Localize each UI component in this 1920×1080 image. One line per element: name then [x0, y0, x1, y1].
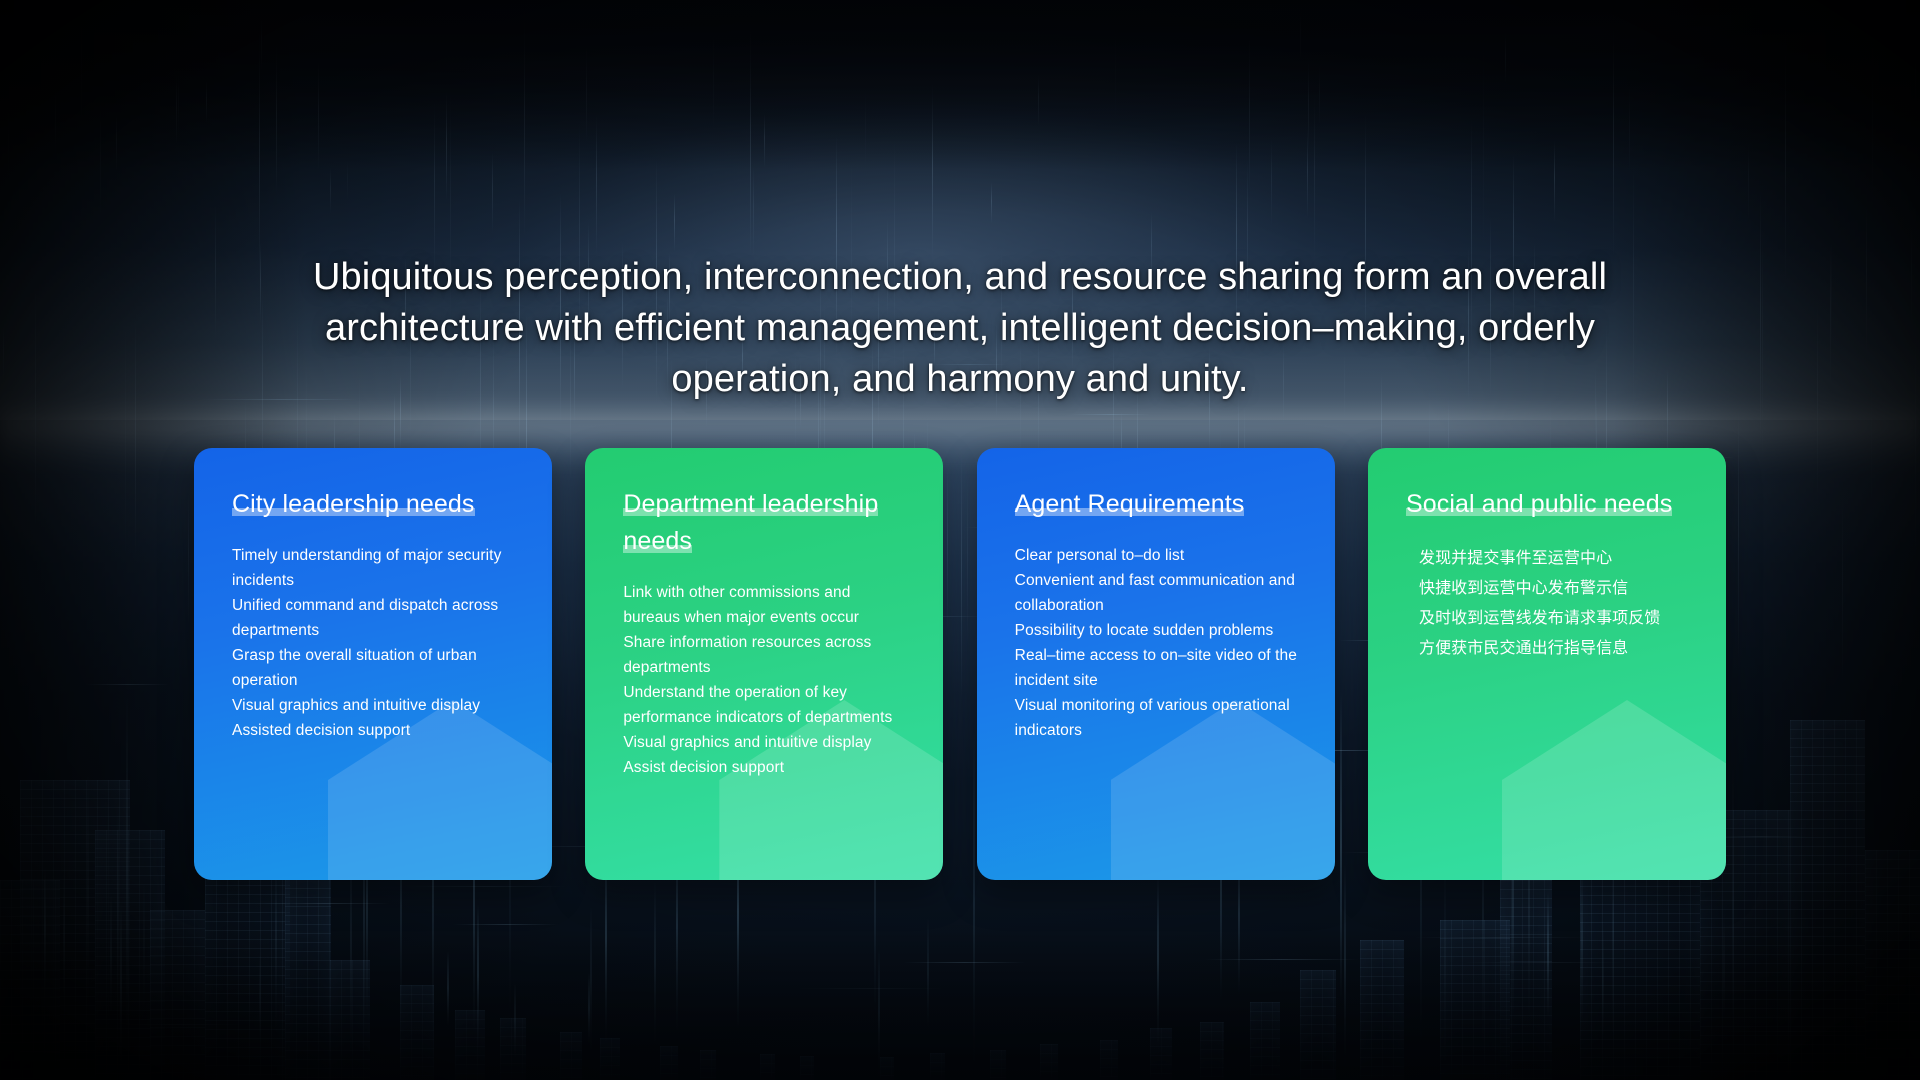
- list-item: Visual graphics and intuitive display: [623, 730, 911, 755]
- list-item: 方便获市民交通出行指导信息: [1419, 634, 1694, 664]
- needs-card-3[interactable]: Agent RequirementsClear personal to–do l…: [977, 448, 1335, 880]
- list-item: Visual monitoring of various operational…: [1015, 693, 1303, 743]
- card-item-list: Timely understanding of major security i…: [232, 543, 520, 743]
- list-item: Unified command and dispatch across depa…: [232, 593, 520, 643]
- list-item: Real–time access to on–site video of the…: [1015, 643, 1303, 693]
- card-title: Social and public needs: [1406, 490, 1672, 518]
- card-title-wrap: Social and public needs: [1406, 486, 1696, 523]
- list-item: Assisted decision support: [232, 718, 520, 743]
- needs-card-2[interactable]: Department leadership needsLink with oth…: [585, 448, 943, 880]
- list-item: 快捷收到运营中心发布警示信: [1419, 574, 1694, 604]
- list-item: Grasp the overall situation of urban ope…: [232, 643, 520, 693]
- list-item: Assist decision support: [623, 755, 911, 780]
- list-item: Convenient and fast communication and co…: [1015, 568, 1303, 618]
- list-item: Timely understanding of major security i…: [232, 543, 520, 593]
- needs-card-1[interactable]: City leadership needsTimely understandin…: [194, 448, 552, 880]
- card-title: Agent Requirements: [1015, 490, 1245, 518]
- card-item-list: Clear personal to–do listConvenient and …: [1015, 543, 1303, 743]
- card-title-wrap: Department leadership needs: [623, 486, 913, 560]
- page-headline: Ubiquitous perception, interconnection, …: [245, 252, 1675, 405]
- card-title: Department leadership needs: [623, 490, 878, 555]
- needs-card-row: City leadership needsTimely understandin…: [194, 448, 1726, 880]
- list-item: Clear personal to–do list: [1015, 543, 1303, 568]
- list-item: Understand the operation of key performa…: [623, 680, 911, 730]
- list-item: 发现并提交事件至运营中心: [1419, 544, 1694, 574]
- list-item: Visual graphics and intuitive display: [232, 693, 520, 718]
- card-title-wrap: City leadership needs: [232, 486, 522, 523]
- card-item-list: 发现并提交事件至运营中心快捷收到运营中心发布警示信及时收到运营线发布请求事项反馈…: [1406, 544, 1694, 664]
- list-item: Possibility to locate sudden problems: [1015, 618, 1303, 643]
- card-title: City leadership needs: [232, 490, 475, 518]
- list-item: Link with other commissions and bureaus …: [623, 580, 911, 630]
- pentagon-decoration-icon: [1502, 700, 1726, 880]
- list-item: Share information resources across depar…: [623, 630, 911, 680]
- card-title-wrap: Agent Requirements: [1015, 486, 1305, 523]
- needs-card-4[interactable]: Social and public needs发现并提交事件至运营中心快捷收到运…: [1368, 448, 1726, 880]
- card-item-list: Link with other commissions and bureaus …: [623, 580, 911, 780]
- list-item: 及时收到运营线发布请求事项反馈: [1419, 604, 1694, 634]
